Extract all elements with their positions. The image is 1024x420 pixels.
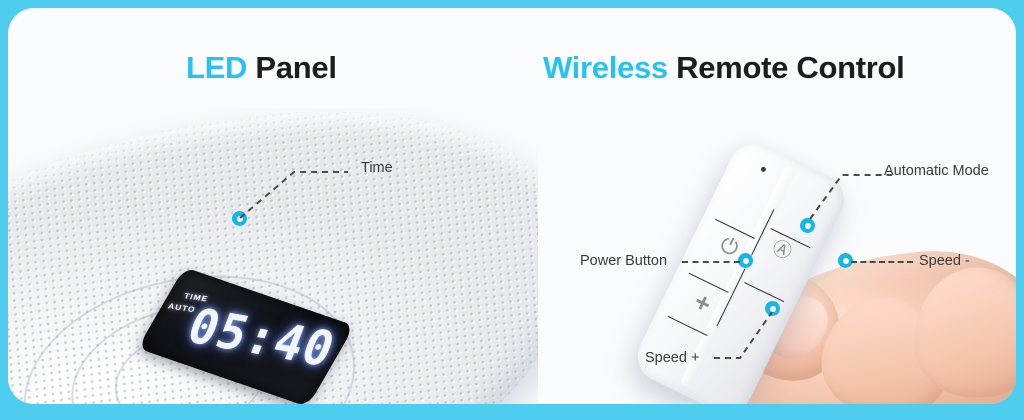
annotation-label-time: Time [361, 160, 393, 176]
leader-line-power-button [682, 261, 740, 263]
leader-line-speed-minus [851, 261, 913, 263]
annotation-label-power-button: Power Button [580, 253, 667, 269]
middle-finger [913, 266, 1016, 398]
leader-line-time [236, 158, 356, 222]
led-label-auto: AUTO [167, 302, 197, 314]
leader-line-automatic-mode [808, 163, 894, 223]
button-divider-4 [744, 282, 784, 303]
content-panel: LED Panel Wireless Remote Control TIME [8, 8, 1016, 404]
leader-line-speed-plus [714, 308, 778, 362]
plus-icon[interactable]: + [690, 288, 715, 318]
auto-mode-icon[interactable]: Ⓐ [769, 238, 794, 263]
annotation-label-speed-minus: Speed - [919, 253, 970, 269]
title-rest-remote: Remote Control [668, 50, 905, 85]
annotation-label-automatic-mode: Automatic Mode [884, 163, 989, 179]
title-accent-led: LED [186, 50, 247, 85]
marker-dot-power-button[interactable] [738, 253, 753, 268]
page-title-remote-control: Wireless Remote Control [543, 50, 904, 86]
title-accent-wireless: Wireless [543, 50, 668, 85]
screenshot-root: LED Panel Wireless Remote Control TIME [0, 0, 1024, 420]
led-panel-product-image: TIME AUTO 05:40 [8, 108, 538, 404]
page-title-led-panel: LED Panel [186, 50, 337, 86]
annotation-label-speed-plus: Speed + [645, 350, 699, 366]
remote-indicator-led-icon [760, 166, 767, 173]
title-rest-led: Panel [247, 50, 337, 85]
